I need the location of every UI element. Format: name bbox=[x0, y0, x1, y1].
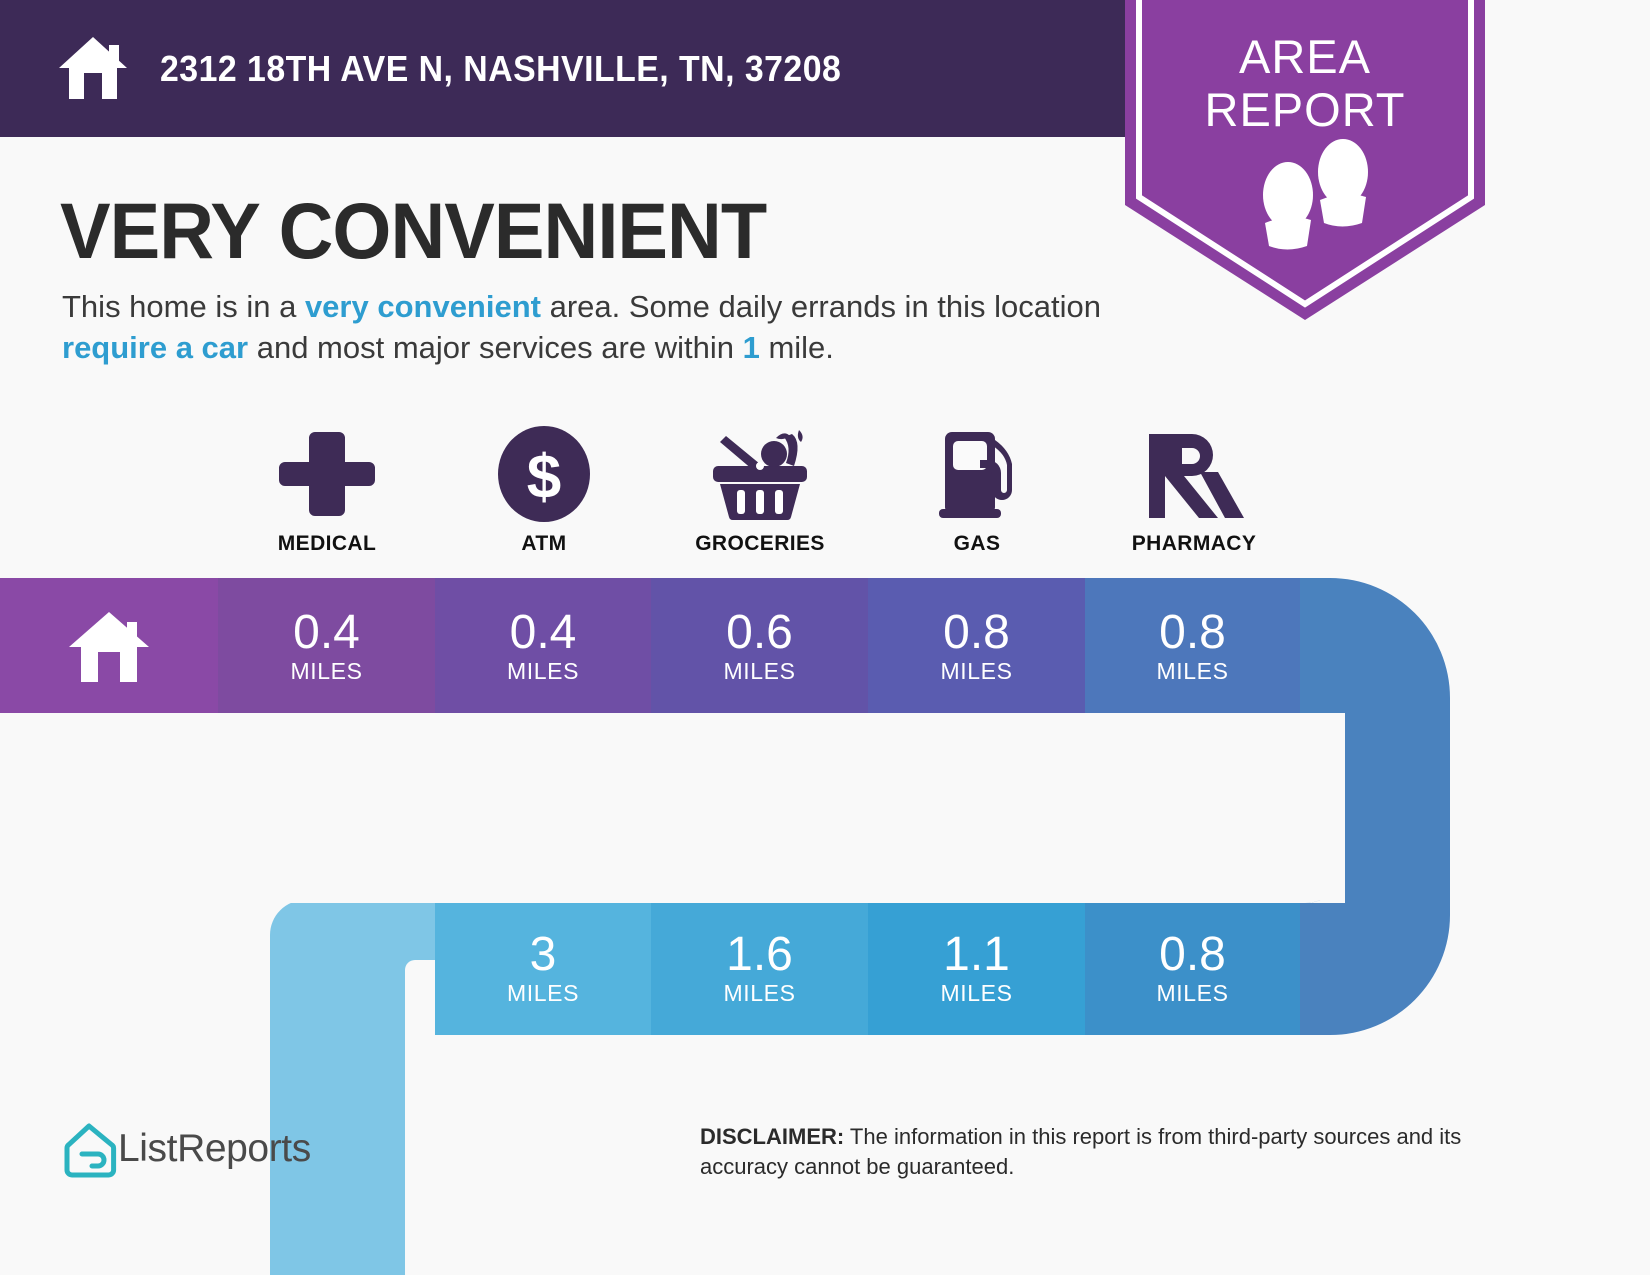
desc-highlight-3: 1 bbox=[743, 330, 760, 365]
desc-highlight-1: very convenient bbox=[305, 289, 541, 324]
desc-part-2: area. Some daily errands in this locatio… bbox=[541, 289, 1101, 324]
page-description: This home is in a very convenient area. … bbox=[62, 286, 1122, 368]
distance-value: 0.6 bbox=[726, 608, 793, 658]
home-icon bbox=[67, 608, 151, 684]
home-icon bbox=[57, 35, 129, 101]
distance-unit: MILES bbox=[507, 658, 579, 684]
icon-label: GROCERIES bbox=[651, 532, 869, 556]
property-address: 2312 18TH AVE N, NASHVILLE, TN, 37208 bbox=[160, 48, 841, 90]
badge-line-1: AREA bbox=[1239, 30, 1371, 83]
ribbon-segment-atm: 0.4 MILES bbox=[435, 578, 651, 713]
icon-label: ATM bbox=[435, 532, 653, 556]
ribbon-segment-gas: 0.8 MILES bbox=[868, 578, 1085, 713]
ribbon-segment-pharmacy: 0.8 MILES bbox=[1085, 578, 1300, 713]
distance-unit: MILES bbox=[940, 658, 1012, 684]
distance-unit: MILES bbox=[723, 658, 795, 684]
badge-line-2: REPORT bbox=[1205, 83, 1406, 136]
distance-unit: MILES bbox=[1156, 658, 1228, 684]
dollar-circle-icon: $ bbox=[435, 424, 653, 524]
grocery-basket-icon bbox=[651, 424, 869, 524]
distance-unit: MILES bbox=[507, 980, 579, 1006]
icon-cell-medical: MEDICAL bbox=[218, 424, 436, 556]
icon-label: PHARMACY bbox=[1085, 532, 1303, 556]
distance-unit: MILES bbox=[940, 980, 1012, 1006]
gas-pump-icon bbox=[868, 424, 1086, 524]
desc-highlight-2: require a car bbox=[62, 330, 248, 365]
icon-cell-gas: GAS bbox=[868, 424, 1086, 556]
distance-unit: MILES bbox=[723, 980, 795, 1006]
icon-cell-groceries: GROCERIES bbox=[651, 424, 869, 556]
distance-value: 0.8 bbox=[943, 608, 1010, 658]
header-bar: 2312 18TH AVE N, NASHVILLE, TN, 37208 bbox=[0, 0, 1185, 137]
icon-label: GAS bbox=[868, 532, 1086, 556]
rx-icon bbox=[1085, 424, 1303, 524]
ribbon-segment-groceries: 0.6 MILES bbox=[651, 578, 868, 713]
distance-value: 0.4 bbox=[293, 608, 360, 658]
ribbon-inner-notch bbox=[0, 713, 1650, 973]
distance-value: 0.4 bbox=[510, 608, 577, 658]
svg-text:$: $ bbox=[527, 443, 561, 512]
desc-part-1: This home is in a bbox=[62, 289, 305, 324]
desc-part-3: and most major services are within bbox=[248, 330, 742, 365]
infographic-root: 2312 18TH AVE N, NASHVILLE, TN, 37208 AR… bbox=[0, 0, 1650, 1275]
brand-name: ListReports bbox=[118, 1127, 311, 1171]
ribbon-home-cell bbox=[0, 578, 218, 713]
badge-title: AREA REPORT bbox=[1125, 30, 1485, 136]
page-title: VERY CONVENIENT bbox=[60, 188, 766, 274]
disclaimer: DISCLAIMER: The information in this repo… bbox=[700, 1122, 1510, 1182]
distance-value: 0.8 bbox=[1159, 608, 1226, 658]
ribbon-segment-medical: 0.4 MILES bbox=[218, 578, 435, 713]
distance-unit: MILES bbox=[290, 658, 362, 684]
desc-part-4: mile. bbox=[760, 330, 834, 365]
medical-cross-icon bbox=[218, 424, 436, 524]
area-report-badge: AREA REPORT bbox=[1125, 0, 1485, 330]
disclaimer-label: DISCLAIMER: bbox=[700, 1124, 844, 1149]
icon-cell-atm: $ ATM bbox=[435, 424, 653, 556]
distance-unit: MILES bbox=[1156, 980, 1228, 1006]
icon-cell-pharmacy: PHARMACY bbox=[1085, 424, 1303, 556]
icon-label: MEDICAL bbox=[218, 532, 436, 556]
